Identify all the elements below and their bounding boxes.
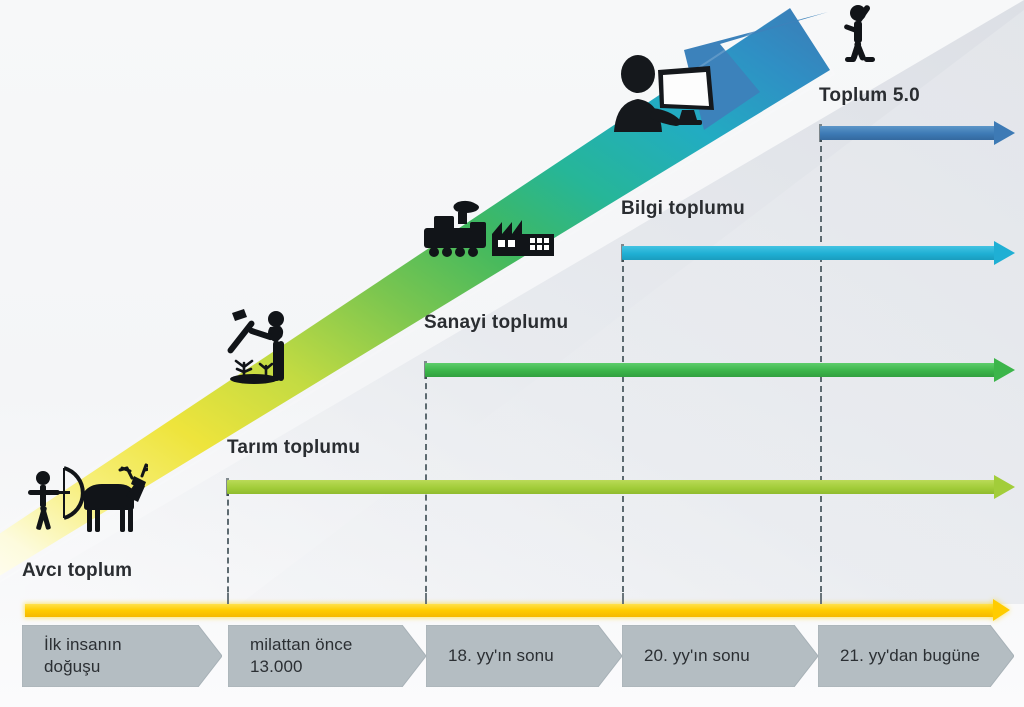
arrow-bar <box>622 246 996 260</box>
timeline-axis-bar <box>25 604 995 617</box>
celebrating-person-icon <box>836 2 888 64</box>
timeline-label-ilk-insan[interactable]: İlk insanın doğuşu <box>22 625 222 687</box>
timeline-tick <box>622 593 624 604</box>
infographic-canvas: Avcı toplum Tarım toplumu Sanayi toplumu… <box>0 0 1024 707</box>
arrow-tarim-toplumu <box>425 363 1014 377</box>
hunter-deer-icon <box>18 462 148 540</box>
arrow-head <box>994 241 1015 265</box>
timeline-tick <box>425 593 427 604</box>
timeline-label-milattan-once[interactable]: milattan önce 13.000 <box>228 625 426 687</box>
dashed-line-3 <box>622 256 624 602</box>
arrow-sanayi-toplumu <box>622 246 1014 260</box>
arrow-bar <box>425 363 996 377</box>
timeline-label-text: 20. yy'ın sonu <box>644 625 750 687</box>
stage-label-bilgi: Bilgi toplumu <box>621 198 745 220</box>
farmer-hoe-icon <box>224 305 302 385</box>
train-factory-icon <box>418 200 558 268</box>
stage-label-avci: Avcı toplum <box>22 560 132 582</box>
timeline-label-21yy[interactable]: 21. yy'dan bugüne <box>818 625 1014 687</box>
dashed-line-1 <box>227 490 229 602</box>
stage-label-toplum-5: Toplum 5.0 <box>819 85 920 107</box>
person-computer-icon <box>608 52 718 134</box>
timeline-label-text: İlk insanın doğuşu <box>44 625 122 687</box>
timeline-label-text: milattan önce 13.000 <box>250 625 352 687</box>
stage-label-tarim: Tarım toplumu <box>227 437 360 459</box>
timeline-label-18yy[interactable]: 18. yy'ın sonu <box>426 625 622 687</box>
arrow-avci-toplum <box>227 480 1014 494</box>
timeline-axis-arrowhead <box>993 599 1010 621</box>
arrow-bar <box>820 126 996 140</box>
timeline-tick <box>820 593 822 604</box>
timeline-tick <box>227 593 229 604</box>
arrow-head <box>994 121 1015 145</box>
arrow-bilgi-toplumu <box>820 126 1014 140</box>
timeline-label-text: 18. yy'ın sonu <box>448 625 554 687</box>
arrow-head <box>994 475 1015 499</box>
stage-label-sanayi: Sanayi toplumu <box>424 312 568 334</box>
arrow-head <box>994 358 1015 382</box>
timeline-label-text: 21. yy'dan bugüne <box>840 625 980 687</box>
timeline-axis <box>25 604 1014 617</box>
timeline-label-20yy[interactable]: 20. yy'ın sonu <box>622 625 818 687</box>
arrow-bar <box>227 480 996 494</box>
